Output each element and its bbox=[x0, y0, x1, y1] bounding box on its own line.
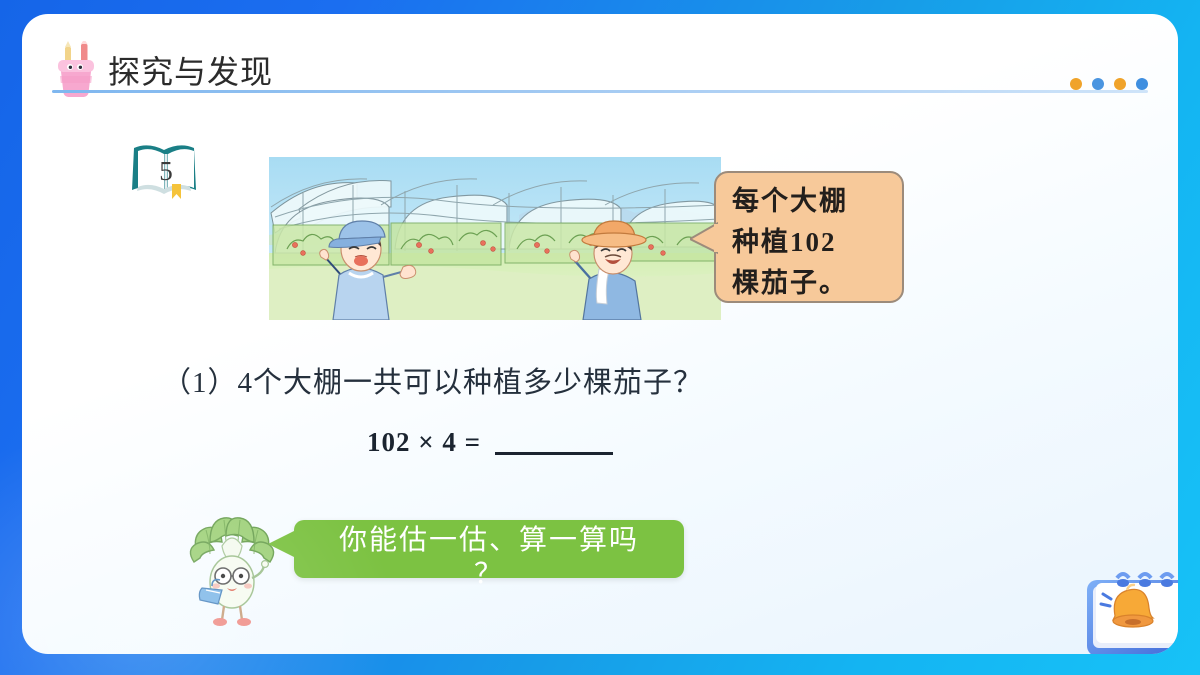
slide-root: 探究与发现 5 bbox=[0, 0, 1200, 675]
prompt-bubble-tail bbox=[268, 530, 296, 560]
speech-bubble-tail bbox=[690, 221, 718, 255]
greenhouse-photo bbox=[269, 157, 721, 320]
dot-blue-1 bbox=[1092, 78, 1104, 90]
book-number: 5 bbox=[159, 156, 173, 186]
farmer-speech-bubble: 每个大棚 种植102 棵茄子。 bbox=[714, 171, 904, 303]
equation-line: 102 × 4 = bbox=[367, 427, 613, 458]
prompt-speech-bubble: 你能估一估、算一算吗 ？ bbox=[294, 520, 684, 578]
slide-canvas: 探究与发现 5 bbox=[22, 14, 1178, 654]
prompt-line-2: ？ bbox=[294, 558, 684, 592]
bubble-line-3: 棵茄子。 bbox=[732, 263, 892, 304]
slide-header: 探究与发现 bbox=[22, 14, 1178, 94]
pencil-cup-icon bbox=[52, 41, 100, 97]
notepad-bell-icon bbox=[1077, 564, 1178, 654]
page-title: 探究与发现 bbox=[108, 47, 273, 93]
bubble-line-2: 种植102 bbox=[732, 222, 892, 263]
prompt-line-1: 你能估一估、算一算吗 bbox=[294, 524, 684, 558]
open-book-icon: 5 bbox=[130, 140, 202, 202]
header-dots bbox=[1070, 78, 1148, 90]
cabbage-mascot-icon bbox=[184, 512, 280, 630]
dot-blue-2 bbox=[1136, 78, 1148, 90]
bubble-line-1: 每个大棚 bbox=[732, 181, 892, 222]
answer-blank[interactable] bbox=[495, 435, 613, 455]
question-1-text: （1）4个大棚一共可以种植多少棵茄子？ bbox=[162, 359, 703, 401]
header-divider bbox=[52, 90, 1148, 93]
dot-orange-2 bbox=[1114, 78, 1126, 90]
dot-orange-1 bbox=[1070, 78, 1082, 90]
equation-expression: 102 × 4 = bbox=[367, 427, 481, 457]
